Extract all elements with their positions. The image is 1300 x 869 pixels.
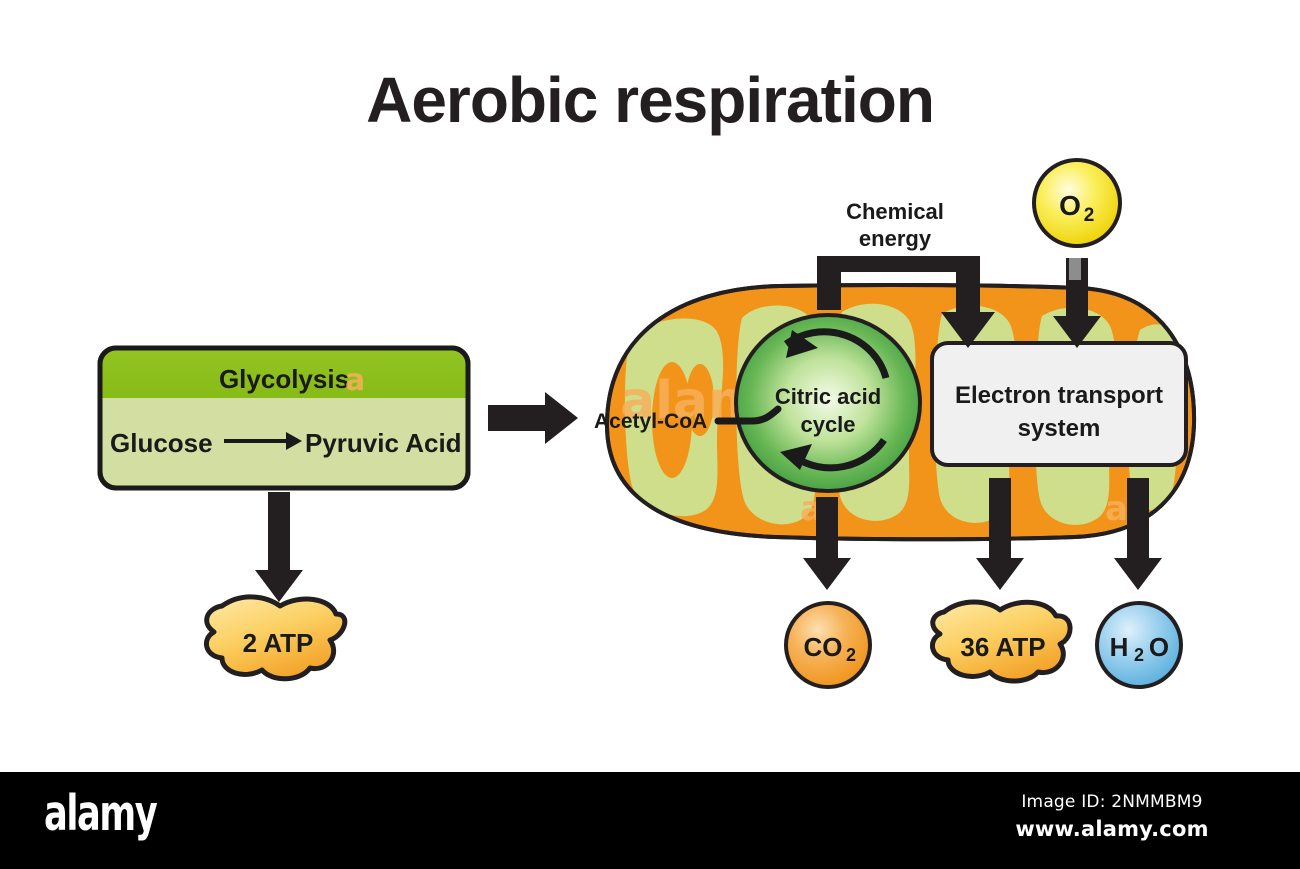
watermark-overlap: [1069, 258, 1081, 280]
glycolysis-reactant: Glucose: [110, 428, 213, 458]
image-id-text: Image ID: 2NMMBM9: [962, 792, 1262, 812]
atp-2-molecule: 2 ATP: [206, 597, 344, 679]
atp-36-molecule: 36 ATP: [932, 602, 1070, 681]
aerobic-respiration-diagram: Aerobic respiration Glycolysis Glucose P…: [0, 0, 1300, 772]
citric-acid-cycle: Citric acid cycle: [736, 315, 920, 491]
atp-2-label: 2 ATP: [243, 628, 314, 658]
ets-label-line1: Electron transport: [955, 382, 1163, 409]
alamy-logo: alamy: [44, 785, 156, 842]
electron-transport-system-box: Electron transport system: [932, 343, 1186, 465]
watermark-letter: a: [345, 363, 365, 398]
atp-36-label: 36 ATP: [960, 632, 1045, 662]
footer-meta: Image ID: 2NMMBM9 www.alamy.com: [962, 792, 1262, 841]
h2o-molecule: H 2 O: [1097, 603, 1181, 687]
watermark-letter: a: [1105, 489, 1128, 529]
co2-subscript: 2: [846, 645, 856, 665]
h2o-suffix: O: [1149, 632, 1169, 662]
glycolysis-box: Glycolysis Glucose Pyruvic Acid a: [100, 348, 468, 488]
h2o-label: H: [1110, 632, 1129, 662]
chemical-energy-label-line1: Chemical: [846, 199, 944, 224]
citric-acid-cycle-label-line2: cycle: [800, 412, 855, 437]
glycolysis-title: Glycolysis: [219, 364, 349, 394]
oxygen-subscript: 2: [1084, 205, 1095, 226]
page-title: Aerobic respiration: [366, 64, 934, 136]
arrow-glycolysis-to-atp: [255, 492, 303, 602]
h2o-subscript: 2: [1134, 645, 1144, 665]
oxygen-label: O: [1059, 190, 1081, 221]
alamy-footer-bar: alamy Image ID: 2NMMBM9 www.alamy.com: [0, 772, 1300, 869]
acetyl-coa-label: Acetyl-CoA: [594, 410, 707, 433]
oxygen-molecule: O 2: [1034, 160, 1120, 246]
ets-label-line2: system: [1018, 415, 1101, 442]
chemical-energy-label-line2: energy: [859, 226, 932, 251]
co2-label: CO: [804, 632, 843, 662]
arrow-glycolysis-to-mitochondrion: [488, 392, 578, 444]
screenshot-root: Aerobic respiration Glycolysis Glucose P…: [0, 0, 1300, 869]
alamy-site-url: www.alamy.com: [962, 817, 1262, 841]
citric-acid-cycle-label-line1: Citric acid: [775, 384, 881, 409]
diagram-canvas: Aerobic respiration Glycolysis Glucose P…: [0, 0, 1300, 772]
co2-molecule: CO 2: [786, 603, 870, 687]
glycolysis-product: Pyruvic Acid: [305, 428, 462, 458]
